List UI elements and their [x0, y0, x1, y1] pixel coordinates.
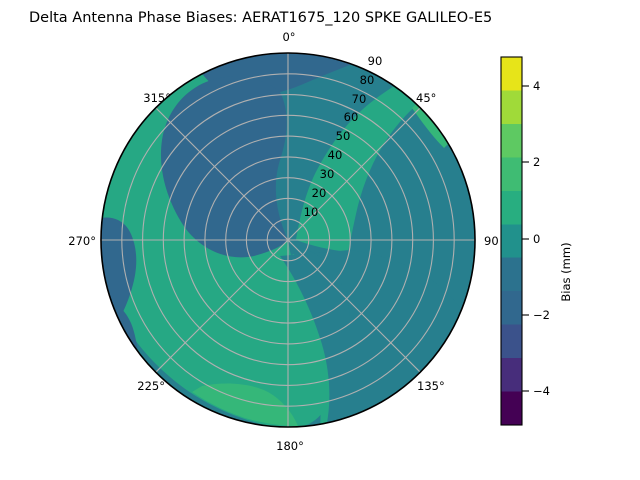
theta-label-225: 225°	[137, 379, 165, 393]
colorbar-tick-label-n2: −2	[533, 308, 550, 322]
r-label-60: 60	[344, 110, 359, 124]
theta-label-135: 135°	[417, 379, 445, 393]
r-label-40: 40	[328, 148, 343, 162]
theta-label-45: 45°	[416, 91, 436, 105]
r-label-20: 20	[312, 186, 327, 200]
polar-grid	[101, 53, 475, 427]
theta-label-180: 180°	[276, 439, 304, 453]
colorbar-tick-label-0: 0	[533, 232, 540, 246]
polar-contour-figure: Delta Antenna Phase Biases: AERAT1675_12…	[0, 0, 640, 480]
r-label-30: 30	[320, 167, 335, 181]
r-label-50: 50	[336, 129, 351, 143]
colorbar-tick-label-n4: −4	[533, 384, 550, 398]
page-title: Delta Antenna Phase Biases: AERAT1675_12…	[29, 10, 492, 26]
theta-label-315: 315°	[143, 91, 171, 105]
colorbar-tick-label-4: 4	[533, 79, 540, 93]
colorbar-tick-labels: 4 2 0 −2 −4	[533, 79, 550, 398]
theta-label-90: 90	[484, 234, 499, 248]
r-label-80: 80	[360, 73, 375, 87]
theta-label-270: 270°	[68, 234, 96, 248]
colorbar-axis-label: Bias (mm)	[559, 242, 573, 301]
colorbar[interactable]: 4 2 0 −2 −4 Bias (mm)	[501, 57, 573, 425]
r-label-70: 70	[352, 92, 367, 106]
theta-label-0: 0°	[282, 30, 295, 44]
colorbar-tick-label-2: 2	[533, 155, 540, 169]
r-label-10: 10	[304, 205, 319, 219]
r-label-90: 90	[368, 54, 383, 68]
colorbar-gradient[interactable]	[501, 57, 522, 425]
